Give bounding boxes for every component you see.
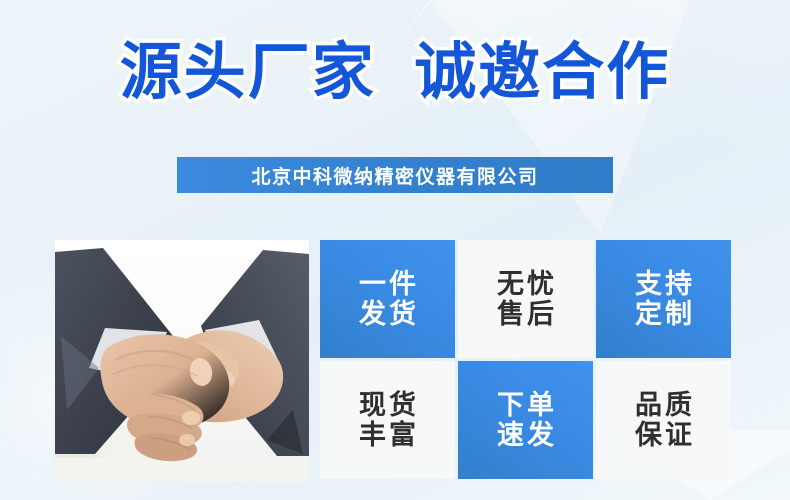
feature-cell-6-line2: 保证 <box>632 420 695 450</box>
feature-cell-4-line1: 现货 <box>356 390 419 420</box>
feature-cell-6[interactable]: 品质 保证 <box>596 361 731 479</box>
company-name-banner: 北京中科微纳精密仪器有限公司 <box>177 157 613 193</box>
company-name-text: 北京中科微纳精密仪器有限公司 <box>251 162 538 189</box>
feature-cell-5-line1: 下单 <box>494 390 557 420</box>
feature-cell-1[interactable]: 一件 发货 <box>320 240 455 358</box>
feature-cell-3-line2: 定制 <box>632 299 695 329</box>
feature-cell-2[interactable]: 无忧 售后 <box>458 240 593 358</box>
feature-grid: 一件 发货 无忧 售后 支持 定制 现货 丰富 下单 速发 品质 保证 <box>320 240 731 482</box>
feature-cell-2-line2: 售后 <box>494 299 557 329</box>
feature-cell-2-line1: 无忧 <box>494 269 557 299</box>
feature-cell-3-line1: 支持 <box>632 269 695 299</box>
feature-cell-5[interactable]: 下单 速发 <box>458 361 593 479</box>
feature-cell-3[interactable]: 支持 定制 <box>596 240 731 358</box>
feature-cell-1-line2: 发货 <box>356 299 419 329</box>
handshake-illustration <box>55 240 309 482</box>
handshake-photo <box>55 240 309 482</box>
page-title: 源头厂家 诚邀合作 <box>0 42 790 104</box>
feature-cell-4[interactable]: 现货 丰富 <box>320 361 455 479</box>
wedge-top-decor <box>430 0 690 235</box>
promo-banner: 源头厂家 诚邀合作 北京中科微纳精密仪器有限公司 <box>0 0 790 500</box>
feature-cell-1-line1: 一件 <box>356 269 419 299</box>
feature-cell-4-line2: 丰富 <box>356 420 419 450</box>
feature-cell-6-line1: 品质 <box>632 390 695 420</box>
feature-cell-5-line2: 速发 <box>494 420 557 450</box>
